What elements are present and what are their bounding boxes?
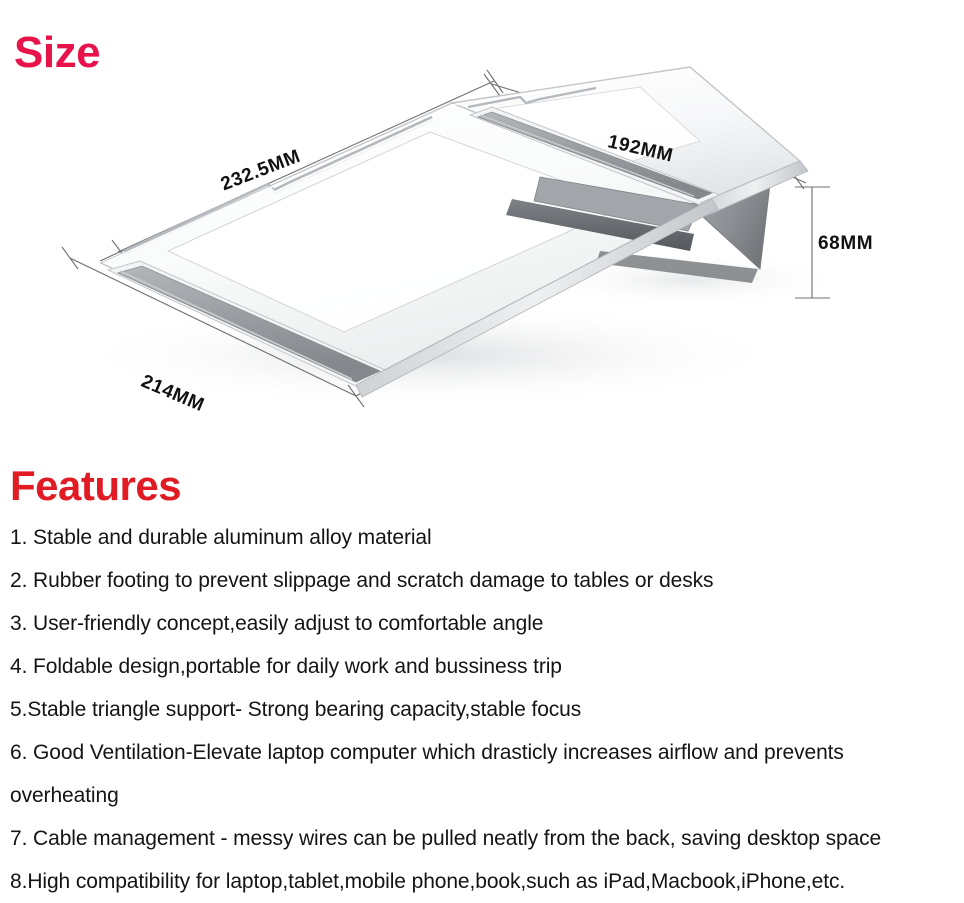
features-section-heading: Features	[10, 465, 181, 507]
feature-item: 4. Foldable design,portable for daily wo…	[10, 645, 960, 688]
feature-item: 7. Cable management - messy wires can be…	[10, 817, 960, 860]
dimension-label-height: 68MM	[818, 233, 873, 255]
product-size-diagram: 232.5MM 192MM 68MM 214MM	[0, 55, 964, 425]
features-list: 1. Stable and durable aluminum alloy mat…	[10, 516, 960, 903]
feature-item: 3. User-friendly concept,easily adjust t…	[10, 602, 960, 645]
feature-item: 1. Stable and durable aluminum alloy mat…	[10, 516, 960, 559]
feature-item: 6. Good Ventilation-Elevate laptop compu…	[10, 731, 960, 774]
feature-item: 2. Rubber footing to prevent slippage an…	[10, 559, 960, 602]
feature-item: 5.Stable triangle support- Strong bearin…	[10, 688, 960, 731]
feature-item: 8.High compatibility for laptop,tablet,m…	[10, 860, 960, 903]
feature-item-continuation: overheating	[10, 774, 960, 817]
